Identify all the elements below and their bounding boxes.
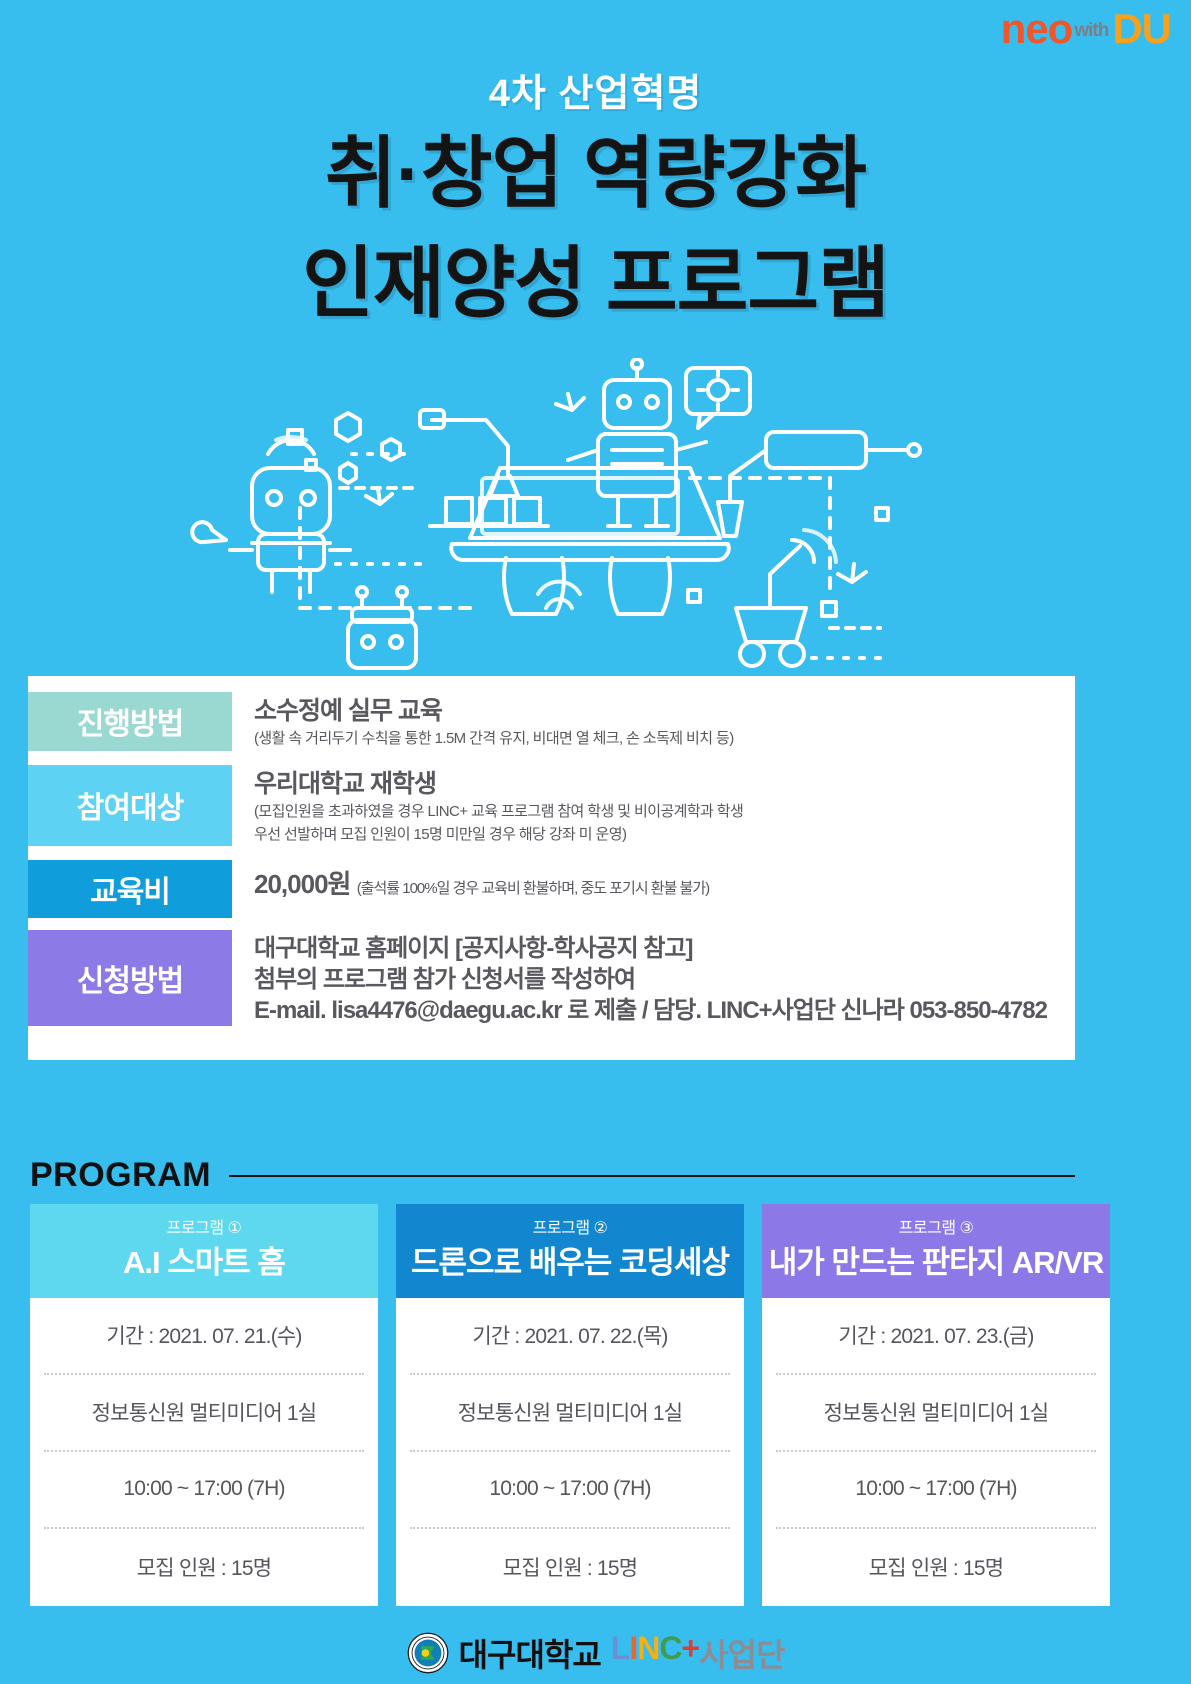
info-panel: 진행방법 소수정예 실무 교육 (생활 속 거리두기 수칙을 통한 1.5M 간…: [28, 676, 1075, 1060]
apply-line-3: E-mail. lisa4476@daegu.ac.kr 로 제출 / 담당. …: [254, 996, 1047, 1027]
program-card-list: 프로그램 ① A.I 스마트 홈 기간 : 2021. 07. 21.(수) 정…: [30, 1204, 1161, 1606]
brand-with-text: with: [1074, 21, 1108, 40]
info-label-target: 참여대상: [28, 765, 232, 847]
brand-du-text: DU: [1112, 8, 1171, 50]
program-card-period: 기간 : 2021. 07. 21.(수): [44, 1298, 364, 1375]
program-card-capacity: 모집 인원 : 15명: [44, 1529, 364, 1606]
program-card-capacity: 모집 인원 : 15명: [410, 1529, 730, 1606]
headline-subtitle: 4차 산업혁명: [0, 62, 1191, 117]
info-row-target: 참여대상 우리대학교 재학생 (모집인원을 초과하였을 경우 LINC+ 교육 …: [28, 751, 1075, 847]
program-card-header: 프로그램 ③ 내가 만드는 판타지 AR/VR: [762, 1204, 1110, 1298]
fee-value: 20,000원: [254, 869, 350, 899]
linc-letter-i: I: [629, 1630, 637, 1676]
info-row-apply: 신청방법 대구대학교 홈페이지 [공지사항-학사공지 참고] 첨부의 프로그램 …: [28, 918, 1075, 1026]
linc-suffix: 사업단: [699, 1630, 784, 1676]
apply-line-2: 첨부의 프로그램 참가 신청서를 작성하여: [254, 965, 1047, 996]
info-sub-target-2: 우선 선발하며 모집 인원이 15명 미만일 경우 해당 강좌 미 운영): [254, 823, 743, 846]
daegu-university-seal-icon: [407, 1632, 449, 1674]
program-card-body: 기간 : 2021. 07. 21.(수) 정보통신원 멀티미디어 1실 10:…: [30, 1298, 378, 1606]
info-main-target: 우리대학교 재학생: [254, 769, 743, 800]
program-card-header: 프로그램 ② 드론으로 배우는 코딩세상: [396, 1204, 744, 1298]
program-card[interactable]: 프로그램 ① A.I 스마트 홈 기간 : 2021. 07. 21.(수) 정…: [30, 1204, 378, 1606]
program-heading-text: PROGRAM: [30, 1156, 211, 1195]
program-card-period: 기간 : 2021. 07. 23.(금): [776, 1298, 1096, 1375]
linc-letter-l: L: [611, 1630, 630, 1676]
brand-logo: neo with DU: [1001, 8, 1171, 50]
info-row-method: 진행방법 소수정예 실무 교육 (생활 속 거리두기 수칙을 통한 1.5M 간…: [28, 676, 1075, 751]
brand-neo-text: neo: [1001, 8, 1073, 50]
program-card-place: 정보통신원 멀티미디어 1실: [44, 1375, 364, 1452]
program-card-body: 기간 : 2021. 07. 23.(금) 정보통신원 멀티미디어 1실 10:…: [762, 1298, 1110, 1606]
program-divider: [229, 1175, 1075, 1177]
info-body-method: 소수정예 실무 교육 (생활 속 거리두기 수칙을 통한 1.5M 간격 유지,…: [232, 692, 734, 751]
info-label-apply: 신청방법: [28, 930, 232, 1026]
program-card-title: 드론으로 배우는 코딩세상: [402, 1244, 738, 1282]
program-card-capacity: 모집 인원 : 15명: [776, 1529, 1096, 1606]
info-label-method: 진행방법: [28, 692, 232, 751]
info-sub-target-1: (모집인원을 초과하였을 경우 LINC+ 교육 프로그램 참여 학생 및 비이…: [254, 800, 743, 823]
program-card[interactable]: 프로그램 ③ 내가 만드는 판타지 AR/VR 기간 : 2021. 07. 2…: [762, 1204, 1110, 1606]
program-card-place: 정보통신원 멀티미디어 1실: [776, 1375, 1096, 1452]
info-main-method: 소수정예 실무 교육: [254, 696, 734, 727]
fee-note: (출석률 100%일 경우 교육비 환불하며, 중도 포기시 환불 불가): [357, 880, 709, 897]
program-card-title: 내가 만드는 판타지 AR/VR: [768, 1244, 1104, 1282]
info-row-fee: 교육비 20,000원 (출석률 100%일 경우 교육비 환불하며, 중도 포…: [28, 846, 1075, 918]
program-card-place: 정보통신원 멀티미디어 1실: [410, 1375, 730, 1452]
program-card-title: A.I 스마트 홈: [36, 1244, 372, 1282]
linc-letter-n: N: [637, 1630, 659, 1676]
poster-headline: 4차 산업혁명 취·창업 역량강화 인재양성 프로그램: [0, 62, 1191, 328]
program-card-time: 10:00 ~ 17:00 (7H): [44, 1452, 364, 1529]
info-body-fee: 20,000원 (출석률 100%일 경우 교육비 환불하며, 중도 포기시 환…: [232, 860, 709, 918]
footer-logos: 대구대학교 L I N C + 사업단: [0, 1621, 1191, 1684]
headline-line1: 취·창업 역량강화: [0, 129, 1191, 219]
linc-letter-plus: +: [681, 1630, 699, 1676]
program-card-body: 기간 : 2021. 07. 22.(목) 정보통신원 멀티미디어 1실 10:…: [396, 1298, 744, 1606]
program-card-tag: 프로그램 ③: [768, 1214, 1104, 1238]
apply-line-1: 대구대학교 홈페이지 [공지사항-학사공지 참고]: [254, 934, 1047, 965]
info-body-target: 우리대학교 재학생 (모집인원을 초과하였을 경우 LINC+ 교육 프로그램 …: [232, 765, 743, 847]
program-card-tag: 프로그램 ②: [402, 1214, 738, 1238]
university-name: 대구대학교: [459, 1630, 601, 1676]
program-card[interactable]: 프로그램 ② 드론으로 배우는 코딩세상 기간 : 2021. 07. 22.(…: [396, 1204, 744, 1606]
robotics-illustration: [0, 358, 1191, 678]
headline-line2: 인재양성 프로그램: [0, 239, 1191, 329]
info-sub-method: (생활 속 거리두기 수칙을 통한 1.5M 간격 유지, 비대면 열 체크, …: [254, 727, 734, 750]
program-section-header: PROGRAM: [30, 1156, 1075, 1195]
info-fee-amount: 20,000원 (출석률 100%일 경우 교육비 환불하며, 중도 포기시 환…: [254, 864, 709, 901]
linc-letter-c: C: [659, 1630, 681, 1676]
program-card-header: 프로그램 ① A.I 스마트 홈: [30, 1204, 378, 1298]
info-label-fee: 교육비: [28, 860, 232, 918]
program-card-time: 10:00 ~ 17:00 (7H): [410, 1452, 730, 1529]
program-card-time: 10:00 ~ 17:00 (7H): [776, 1452, 1096, 1529]
info-body-apply: 대구대학교 홈페이지 [공지사항-학사공지 참고] 첨부의 프로그램 참가 신청…: [232, 930, 1047, 1026]
program-card-period: 기간 : 2021. 07. 22.(목): [410, 1298, 730, 1375]
program-card-tag: 프로그램 ①: [36, 1214, 372, 1238]
linc-logo: L I N C + 사업단: [611, 1630, 785, 1676]
